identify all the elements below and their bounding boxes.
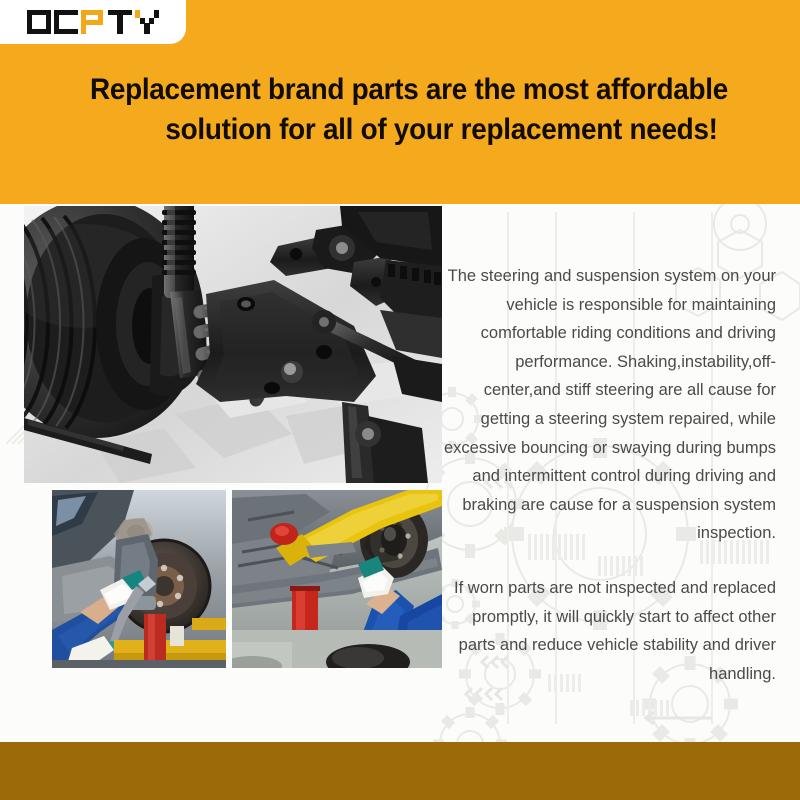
logo-letter-t [108, 10, 132, 34]
brand-wordmark [27, 10, 159, 34]
logo-letter-y [135, 10, 159, 34]
main-photo-suspension [24, 206, 442, 483]
banner-header: Replacement brand parts are the most aff… [0, 0, 800, 204]
headline: Replacement brand parts are the most aff… [66, 70, 752, 150]
headline-line-1: Replacement brand parts are the most aff… [66, 70, 752, 110]
paragraph-2: If worn parts are not inspected and repl… [440, 574, 776, 688]
logo-letter-o [27, 10, 51, 34]
logo-letter-p [81, 10, 105, 34]
brand-logo [0, 0, 186, 44]
paragraph-1: The steering and suspension system on yo… [440, 262, 776, 548]
headline-line-2: solution for all of your replacement nee… [66, 110, 752, 150]
product-banner: Replacement brand parts are the most aff… [0, 0, 800, 800]
footer-bar [0, 742, 800, 800]
body-copy: The steering and suspension system on yo… [440, 262, 776, 688]
logo-letter-c [54, 10, 78, 34]
thumbnail-brake-service [52, 490, 226, 668]
thumbnail-underbody-inspection [232, 490, 442, 668]
